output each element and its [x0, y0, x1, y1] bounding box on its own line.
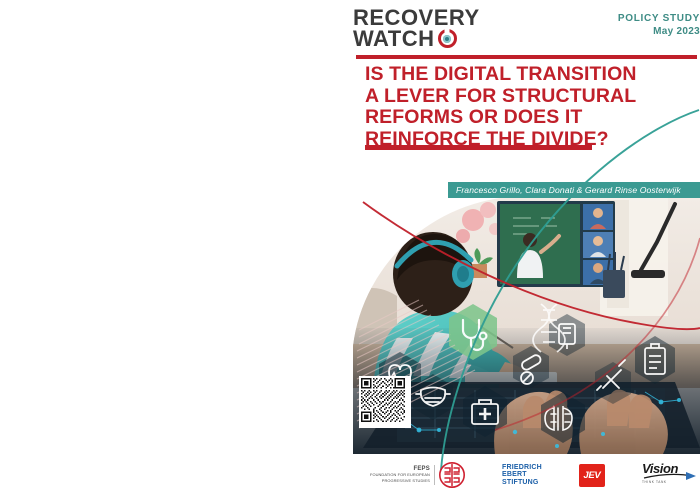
publication-date: May 2023 [618, 25, 700, 39]
jev-label: JEV [583, 470, 600, 481]
vision-logo: Vision THINK TANK [642, 462, 700, 488]
friedrich-ebert-stiftung-logo: FRIEDRICH EBERT STIFTUNG [502, 464, 542, 486]
title-line-2: A LEVER FOR STRUCTURAL [365, 86, 697, 108]
qr-code[interactable] [359, 376, 411, 428]
brand-line-2: WATCH [353, 29, 480, 48]
authors-banner: Francesco Grillo, Clara Donati & Gerard … [448, 182, 700, 198]
feps-line-1: FOUNDATION FOR EUROPEAN [370, 472, 430, 477]
publication-meta: POLICY STUDY May 2023 [618, 12, 700, 39]
cover-image [345, 196, 700, 454]
title-line-3: REFORMS OR DOES IT [365, 107, 697, 129]
recovery-watch-logo: RECOVERY WATCH [353, 8, 480, 48]
feps-logo: FEPS FOUNDATION FOR EUROPEAN PROGRESSIVE… [370, 462, 465, 488]
title-line-1: IS THE DIGITAL TRANSITION [365, 64, 697, 86]
feps-text: FEPS FOUNDATION FOR EUROPEAN PROGRESSIVE… [370, 467, 430, 483]
fes-line-2: EBERT [502, 471, 542, 478]
authors-text: Francesco Grillo, Clara Donati & Gerard … [456, 185, 681, 195]
title-rule-bottom [365, 145, 592, 150]
feps-divider [434, 465, 435, 485]
feps-line-2: PROGRESSIVE STUDIES [370, 478, 430, 483]
brand-word-watch: WATCH [353, 29, 435, 48]
qr-code-icon [361, 378, 405, 422]
document-page: RECOVERY WATCH POLICY STUDY May 2023 IS … [0, 0, 700, 495]
policy-study-label: POLICY STUDY [618, 12, 700, 25]
recovery-watch-eye-target-icon [438, 29, 457, 48]
title-rule-top [356, 55, 697, 59]
fes-line-1: FRIEDRICH [502, 464, 542, 471]
brand-line-1: RECOVERY [353, 8, 480, 27]
cover-content: RECOVERY WATCH POLICY STUDY May 2023 IS … [345, 0, 700, 495]
fes-line-3: STIFTUNG [502, 479, 542, 486]
partner-logos: FEPS FOUNDATION FOR EUROPEAN PROGRESSIVE… [370, 458, 700, 492]
jev-logo: JEV [579, 464, 605, 487]
vision-arrow-icon [642, 471, 698, 481]
cover-header: RECOVERY WATCH POLICY STUDY May 2023 [353, 6, 700, 52]
page-title: IS THE DIGITAL TRANSITION A LEVER FOR ST… [365, 64, 697, 150]
brand-word-recovery: RECOVERY [353, 8, 480, 27]
feps-emblem-icon [439, 462, 465, 488]
